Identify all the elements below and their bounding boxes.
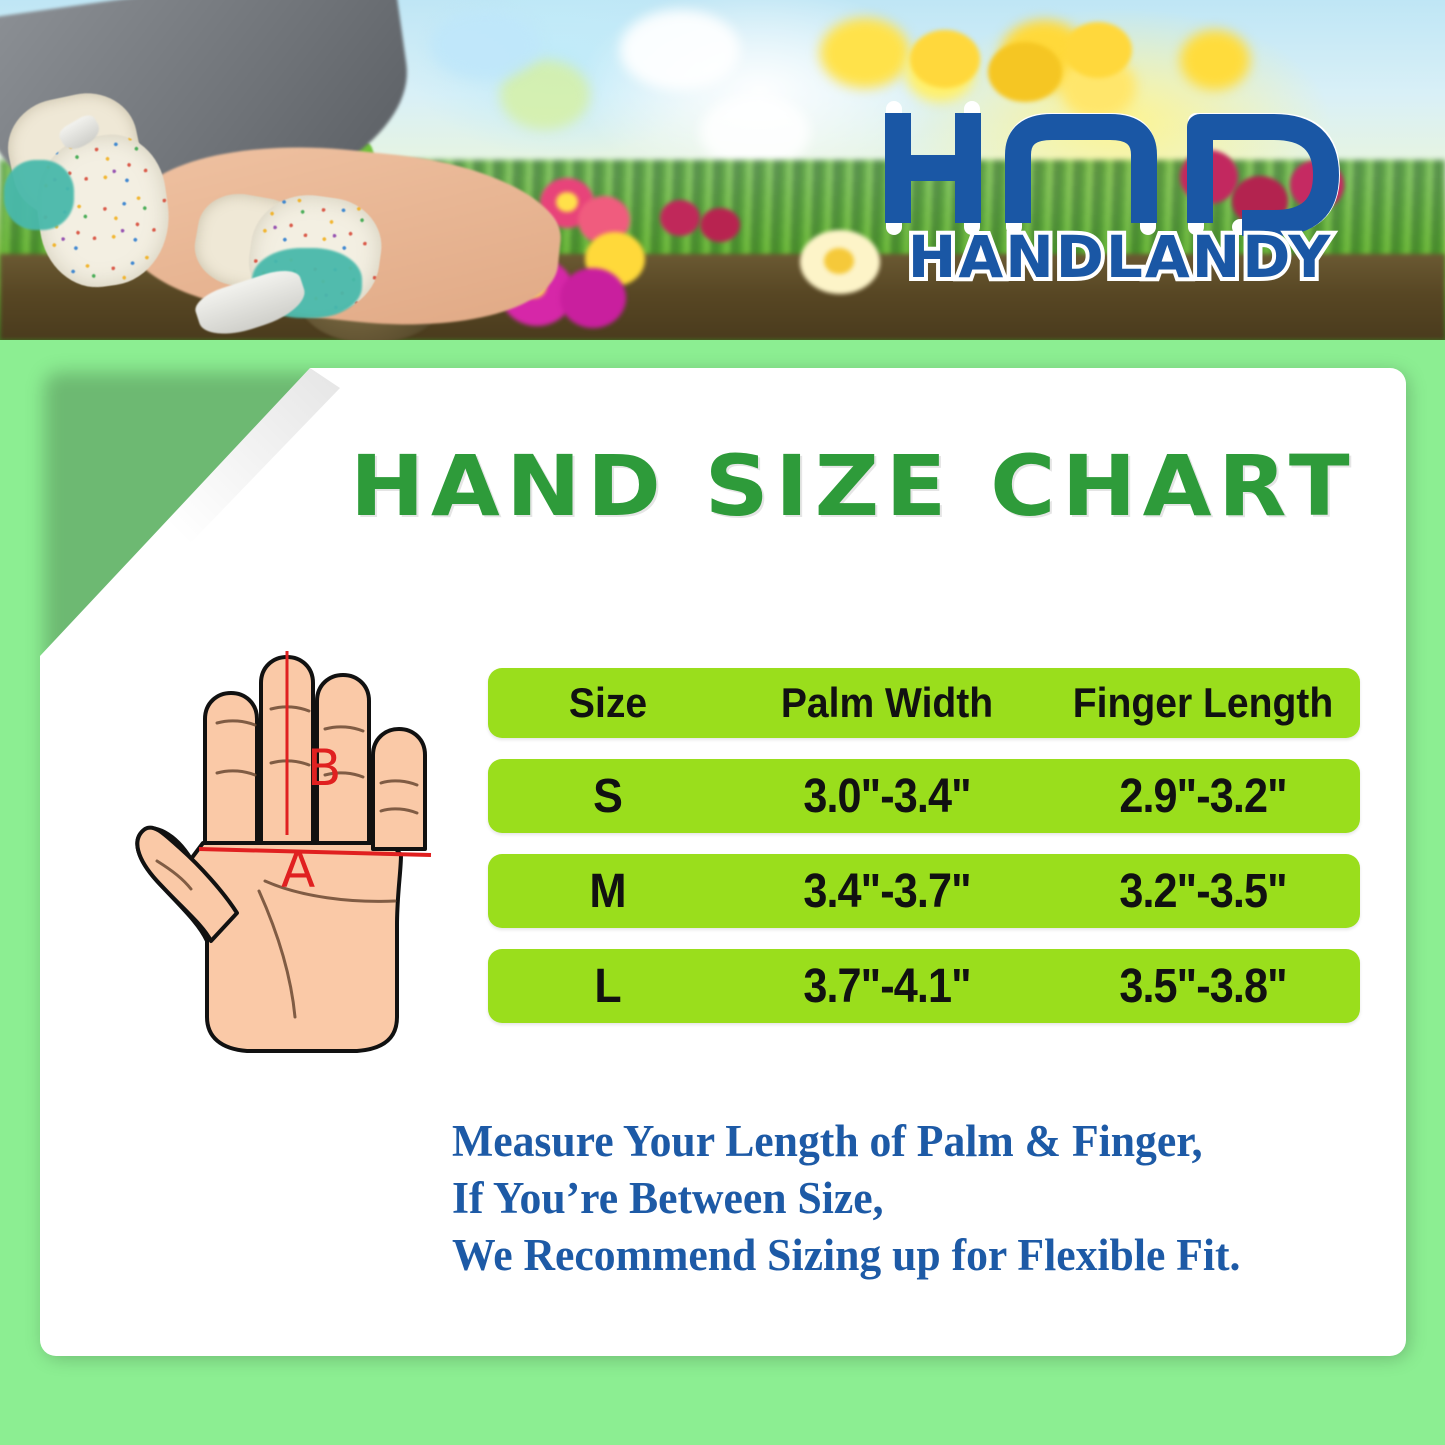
column-header-size: Size xyxy=(496,679,719,727)
blurred-flower-blob xyxy=(430,10,540,80)
measurement-instructions: Measure Your Length of Palm & Finger, If… xyxy=(452,1113,1240,1284)
size-chart-table: Size Palm Width Finger Length S 3.0"-3.4… xyxy=(488,668,1360,1044)
cell-size: M xyxy=(496,864,719,919)
blurred-flower-blob xyxy=(820,18,910,88)
cell-palm-width: 3.7"-4.1" xyxy=(744,959,1030,1014)
table-row: S 3.0"-3.4" 2.9"-3.2" xyxy=(488,759,1360,833)
cell-finger-length: 3.2"-3.5" xyxy=(1062,864,1345,919)
table-header-row: Size Palm Width Finger Length xyxy=(488,668,1360,738)
daffodil-flower xyxy=(1064,22,1132,78)
small-flower xyxy=(660,200,700,236)
table-row: L 3.7"-4.1" 3.5"-3.8" xyxy=(488,949,1360,1023)
column-header-finger-length: Finger Length xyxy=(1057,679,1349,727)
blurred-flower-blob xyxy=(700,95,810,170)
hero-banner-image: HANDLANDY xyxy=(0,0,1445,340)
svg-text:HANDLANDY: HANDLANDY xyxy=(908,223,1332,285)
blurred-flower-blob xyxy=(620,10,740,90)
primrose-flower xyxy=(560,268,626,328)
logo-wordmark: HANDLANDY xyxy=(908,223,1332,285)
label-b: B xyxy=(307,739,341,797)
label-a: A xyxy=(281,841,315,899)
cell-finger-length: 3.5"-3.8" xyxy=(1062,959,1345,1014)
cell-palm-width: 3.0"-3.4" xyxy=(744,769,1030,824)
page-title: HAND SIZE CHART xyxy=(350,444,1431,528)
pansy-center xyxy=(824,248,854,274)
brand-logo: HANDLANDY xyxy=(880,95,1360,285)
column-header-palm-width: Palm Width xyxy=(739,679,1035,727)
hand-measurement-diagram: B A xyxy=(95,645,495,1085)
cell-palm-width: 3.4"-3.7" xyxy=(744,864,1030,919)
small-flower xyxy=(700,208,740,242)
instruction-line-3: We Recommend Sizing up for Flexible Fit. xyxy=(452,1227,1240,1284)
daffodil-flower xyxy=(910,30,980,88)
table-row: M 3.4"-3.7" 3.2"-3.5" xyxy=(488,854,1360,928)
daffodil-flower xyxy=(988,42,1062,102)
instruction-line-1: Measure Your Length of Palm & Finger, xyxy=(452,1113,1240,1170)
cell-size: S xyxy=(496,769,719,824)
cell-size: L xyxy=(496,959,719,1014)
daisy-center xyxy=(556,192,578,212)
instruction-line-2: If You’re Between Size, xyxy=(452,1170,1240,1227)
blurred-flower-blob xyxy=(1180,30,1250,90)
glove-mesh-back xyxy=(4,160,74,230)
cell-finger-length: 2.9"-3.2" xyxy=(1062,769,1345,824)
